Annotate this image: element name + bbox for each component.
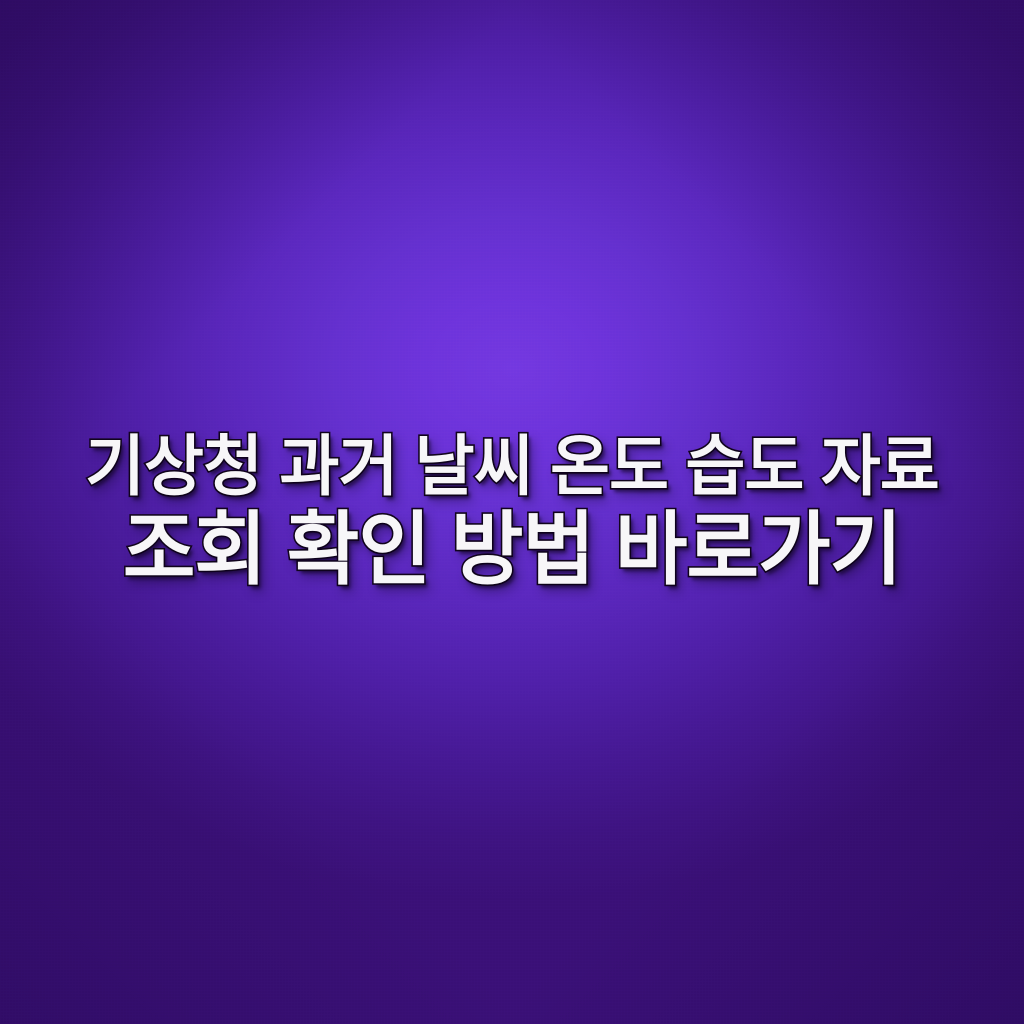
title-card: 기상청 과거 날씨 온도 습도 자료 조회 확인 방법 바로가기 xyxy=(0,0,1024,1024)
headline-block: 기상청 과거 날씨 온도 습도 자료 조회 확인 방법 바로가기 xyxy=(0,0,1024,1024)
headline-line-1: 기상청 과거 날씨 온도 습도 자료 xyxy=(53,432,971,502)
headline-line-2: 조회 확인 방법 바로가기 xyxy=(53,508,971,593)
